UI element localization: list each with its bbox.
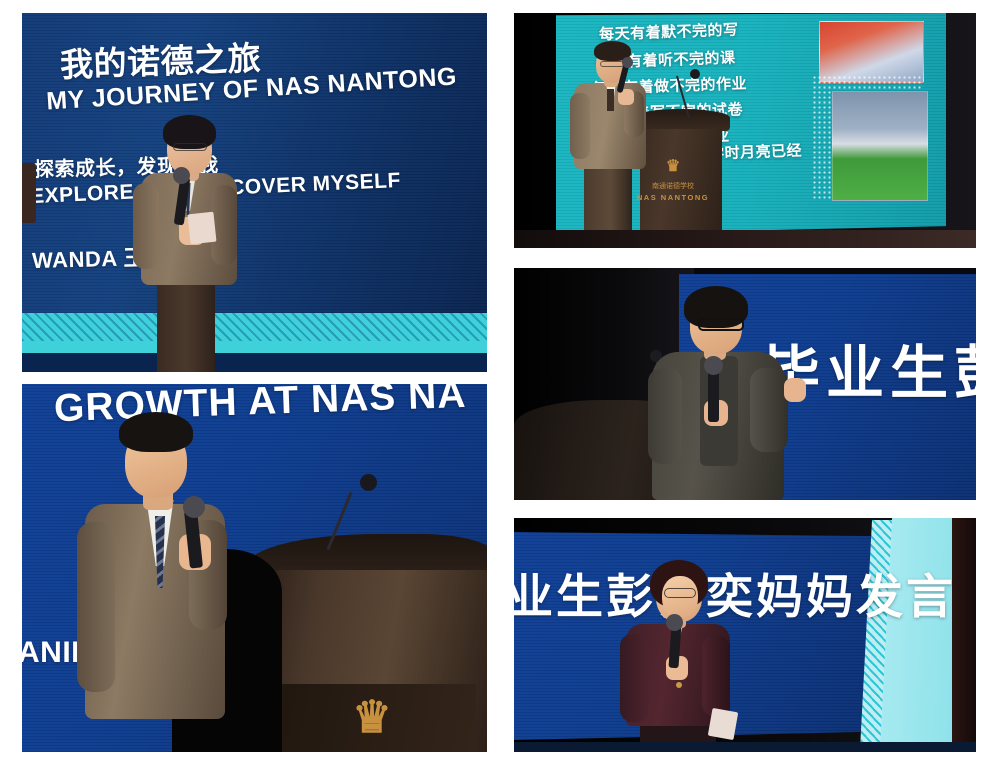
photo-mid-right[interactable]: 毕业生彭: [514, 268, 976, 500]
right-edge-dark: [952, 518, 976, 752]
crown-emblem: ♛: [317, 696, 427, 740]
arm-left: [702, 636, 730, 716]
hair: [119, 412, 193, 452]
stage-scene-top-right: 每天有着默不完的写 每天有着听不完的课 每天有着做不完的作业 每天有着写不完的试…: [514, 13, 976, 248]
microphone-head: [183, 496, 205, 518]
microphone-head: [622, 57, 633, 68]
photo-top-left[interactable]: 我的诺德之旅 MY JOURNEY OF NAS NANTONG 探索成长，发现…: [22, 13, 487, 372]
arm-right: [570, 93, 590, 159]
glasses-icon: [173, 143, 207, 151]
arm-left: [750, 368, 788, 452]
arm-right: [77, 522, 115, 692]
speaker-person: [127, 105, 257, 372]
arm-right: [133, 183, 159, 269]
speaker-person: [642, 284, 832, 500]
arm-left: [211, 185, 237, 265]
speaker-person: [572, 41, 658, 248]
stage-floor: [514, 230, 976, 248]
button-2: [676, 682, 682, 688]
microphone-head: [704, 356, 723, 375]
photo-top-right[interactable]: 每天有着默不完的写 每天有着听不完的课 每天有着做不完的作业 每天有着写不完的试…: [514, 13, 976, 248]
glasses-icon: [664, 588, 696, 598]
photo-collage: 我的诺德之旅 MY JOURNEY OF NAS NANTONG 探索成长，发现…: [0, 0, 1000, 768]
arm-right: [648, 368, 682, 464]
hand-left: [784, 378, 806, 402]
stage-floor: [514, 742, 976, 752]
stage-prop-left: [22, 163, 36, 223]
photo-bottom-left[interactable]: GROWTH AT NAS NA ANIE ♛: [22, 384, 487, 752]
slide-image-flag-ceremony: [832, 91, 928, 201]
arm-right: [620, 634, 648, 722]
speaker-person: [77, 404, 267, 752]
podium-microphone-head: [360, 474, 377, 491]
podium: ♛: [247, 534, 487, 752]
speech-notes: [708, 708, 738, 740]
stage-scene-top-left: 我的诺德之旅 MY JOURNEY OF NAS NANTONG 探索成长，发现…: [22, 13, 487, 372]
legs: [157, 275, 215, 372]
glasses-icon: [600, 61, 624, 67]
microphone-head: [666, 614, 683, 631]
stage-scene-mid-right: 毕业生彭: [514, 268, 976, 500]
necktie: [607, 89, 614, 111]
speech-card: [188, 212, 217, 245]
podium-microphone-head: [690, 69, 700, 79]
microphone-head: [173, 167, 190, 184]
speaker-person: [618, 556, 768, 752]
slide-image-classroom: [819, 21, 924, 83]
stage-scene-bottom-right: 业生彭亦奕妈妈发言: [514, 518, 976, 752]
stage-scene-bottom-left: GROWTH AT NAS NA ANIE ♛: [22, 384, 487, 752]
photo-bottom-right[interactable]: 业生彭亦奕妈妈发言: [514, 518, 976, 752]
glasses-icon: [698, 318, 744, 331]
